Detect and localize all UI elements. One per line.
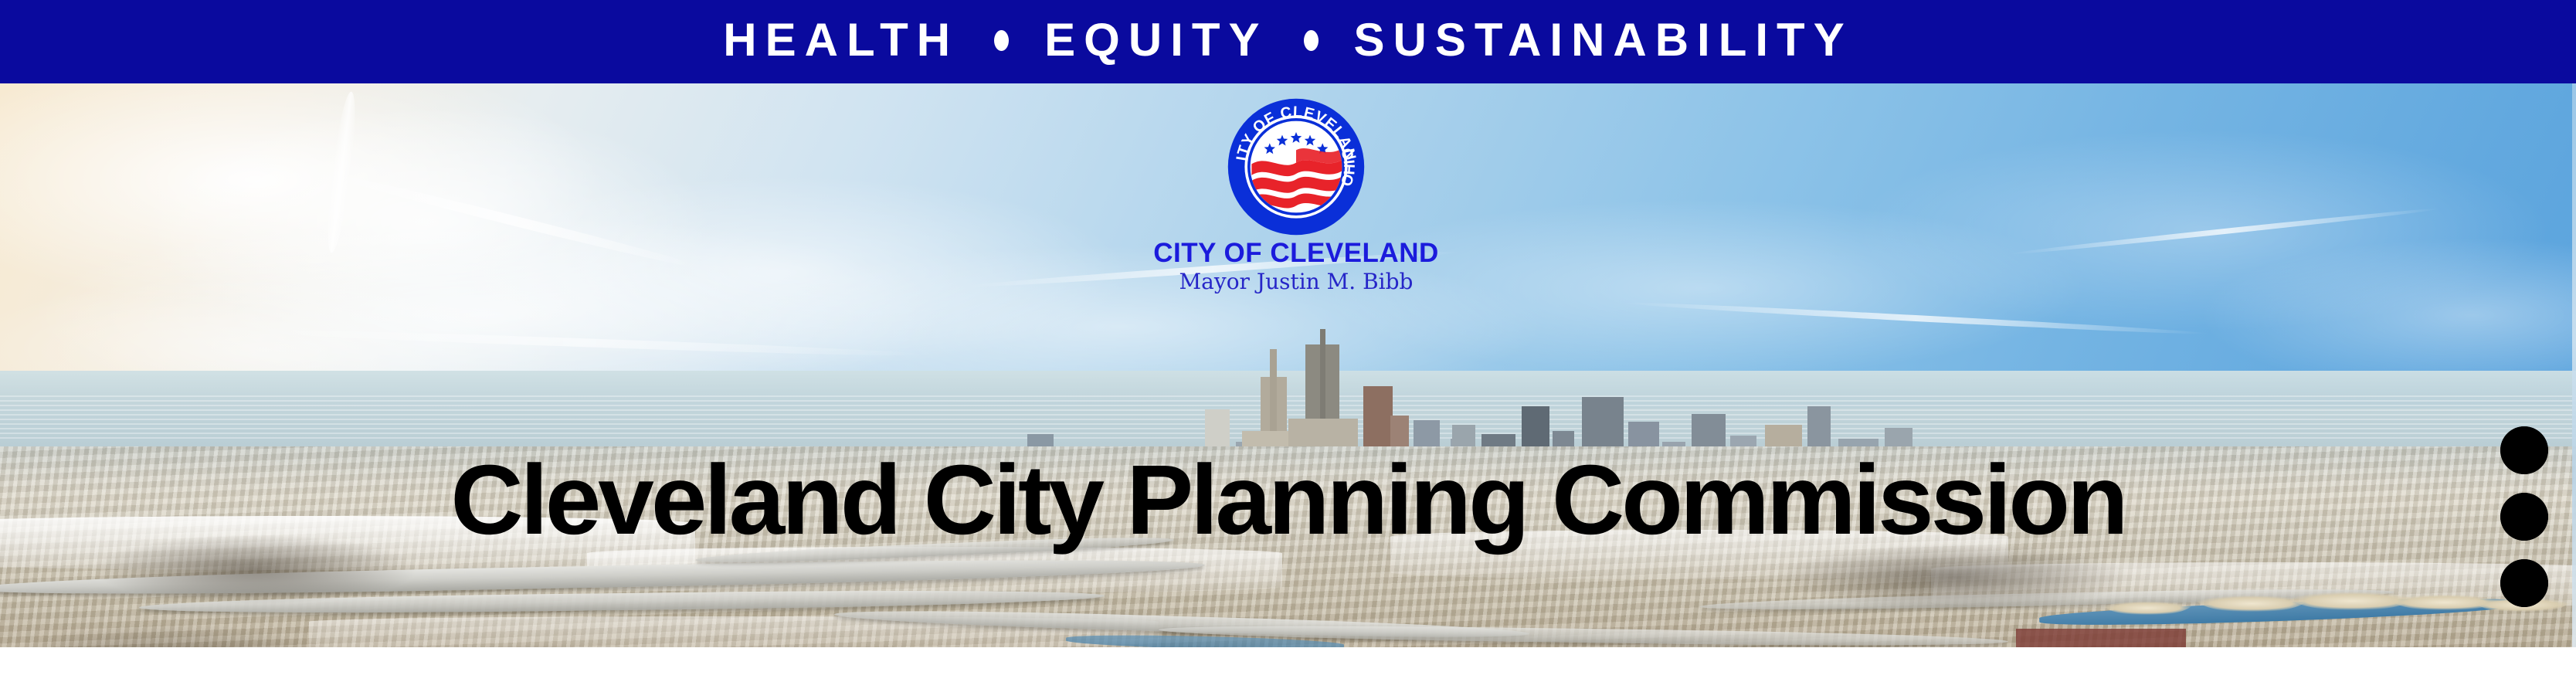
tagline-word-sustainability: SUSTAINABILITY — [1354, 17, 1853, 63]
city-branding-block: CITY OF CLEVELAND OHIO CITY OF CLEVELAND… — [1153, 97, 1439, 294]
bullet-dot-icon — [1304, 30, 1319, 51]
mayor-name: Mayor Justin M. Bibb — [1153, 270, 1439, 294]
city-wordmark: CITY OF CLEVELAND — [1153, 239, 1439, 268]
tagline-word-equity: EQUITY — [1044, 17, 1268, 63]
industrial-roof — [2016, 629, 2186, 647]
page-root: HEALTH EQUITY SUSTAINABILITY — [0, 0, 2576, 682]
youtube-icon[interactable] — [2500, 426, 2548, 474]
instagram-icon[interactable] — [2500, 493, 2548, 541]
right-edge-strip — [2572, 83, 2576, 647]
page-title: Cleveland City Planning Commission — [0, 451, 2576, 550]
tagline-word-group: HEALTH EQUITY SUSTAINABILITY — [723, 17, 1852, 63]
tagline-banner: HEALTH EQUITY SUSTAINABILITY — [0, 0, 2576, 83]
city-of-cleveland-seal-icon: CITY OF CLEVELAND OHIO — [1227, 97, 1366, 236]
facebook-icon[interactable] — [2500, 559, 2548, 607]
social-links — [2500, 426, 2548, 607]
gravel-pile — [2101, 584, 2194, 615]
tagline-word-health: HEALTH — [723, 17, 959, 63]
bullet-dot-icon — [994, 30, 1009, 51]
bottom-whitespace — [0, 647, 2576, 682]
